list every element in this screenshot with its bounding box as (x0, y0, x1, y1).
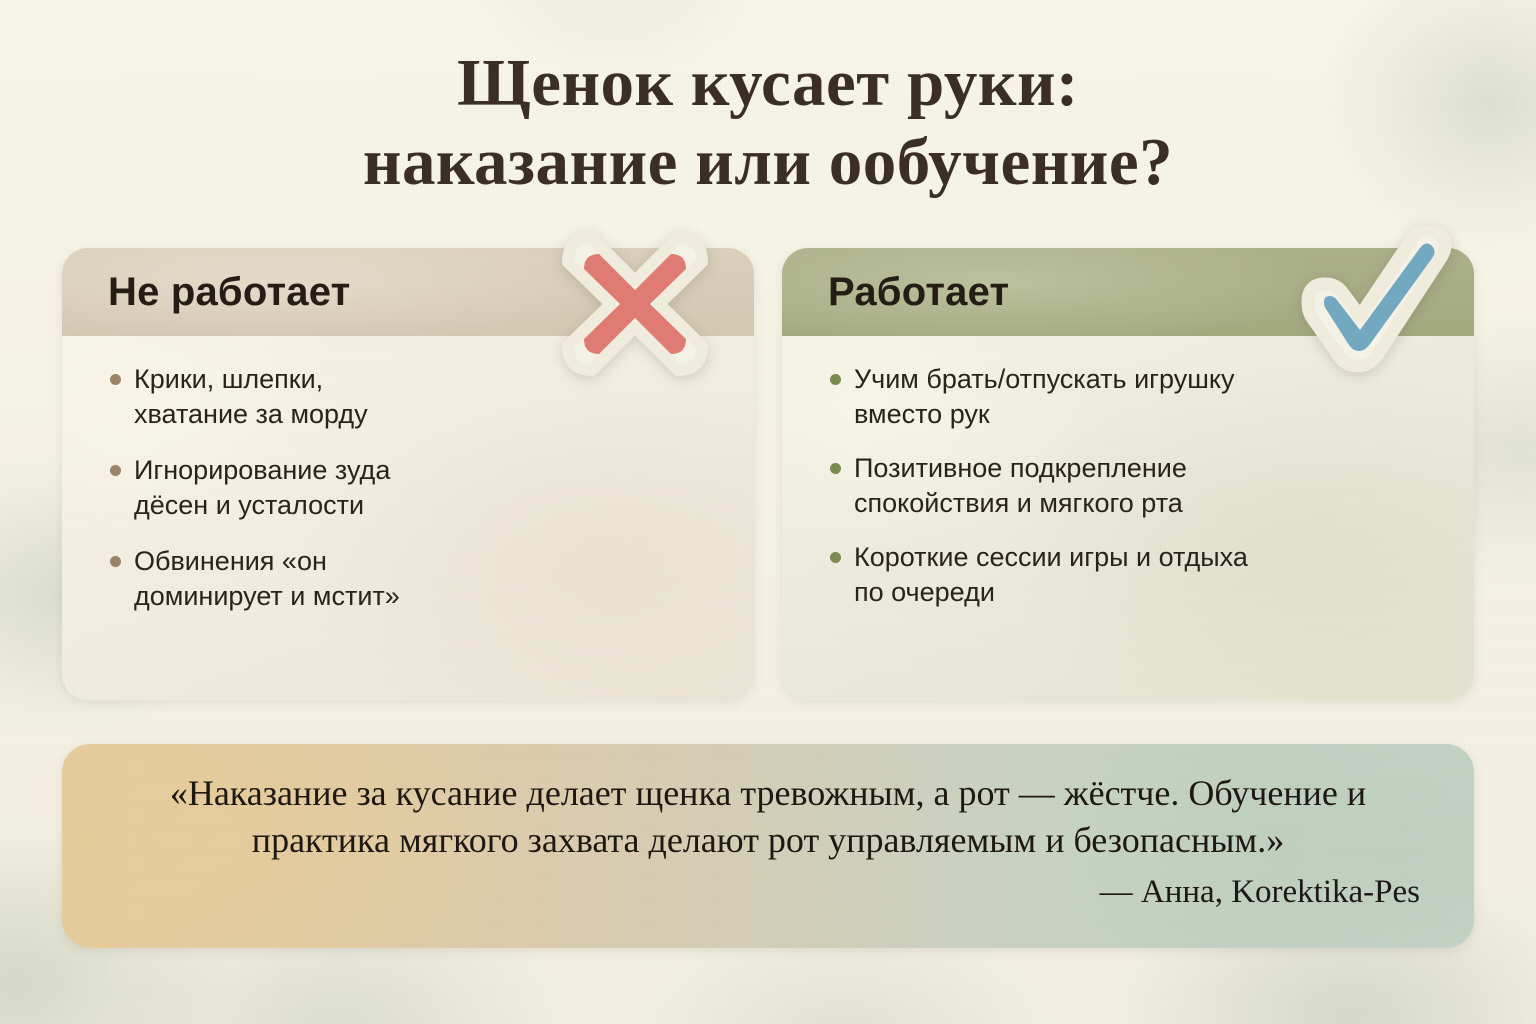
check-icon (1288, 226, 1458, 378)
page-title-line-1: Щенок кусает руки: (0, 44, 1536, 123)
card-not-working-body: Крики, шлепки, хватание за морду Игнорир… (62, 336, 754, 700)
card-working-bullet-list: Учим брать/отпускать игрушку вместо рук … (782, 362, 1280, 609)
man-scolding-puppy-illustration (392, 692, 754, 700)
quote-attribution: — Анна, Korektika-Pes (102, 874, 1434, 911)
card-working-body: Учим брать/отпускать игрушку вместо рук … (782, 336, 1474, 700)
list-item: Учим брать/отпускать игрушку вместо рук (810, 362, 1280, 431)
cross-icon (558, 228, 712, 380)
infographic-poster: Щенок кусает руки: наказание или ообучен… (0, 0, 1536, 1024)
list-item: Игнорирование зуда дёсен и усталости (90, 453, 420, 522)
page-title: Щенок кусает руки: наказание или ообучен… (0, 44, 1536, 202)
page-title-line-2: наказание или ообучение? (0, 123, 1536, 202)
card-working-title: Работает (828, 270, 1009, 315)
list-item: Позитивное подкрепление спокойствия и мя… (810, 451, 1280, 520)
card-not-working-bullet-list: Крики, шлепки, хватание за морду Игнорир… (62, 362, 420, 613)
list-item: Крики, шлепки, хватание за морду (90, 362, 420, 431)
card-not-working-title: Не работает (108, 270, 350, 315)
quote-banner: «Наказание за кусание делает щенка трево… (62, 744, 1474, 948)
quote-text: «Наказание за кусание делает щенка трево… (102, 770, 1434, 864)
list-item: Обвинения «он доминирует и мстит» (90, 544, 420, 613)
list-item: Короткие сессии игры и отдыха по очереди (810, 540, 1280, 609)
